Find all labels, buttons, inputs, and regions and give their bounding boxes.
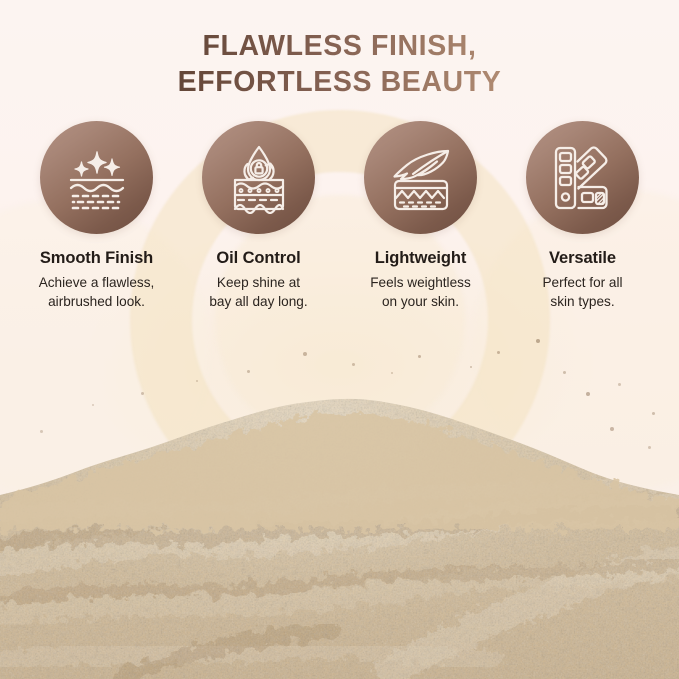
- feature-description: Perfect for all skin types.: [542, 273, 622, 312]
- feature-title: Versatile: [549, 249, 616, 268]
- icon-badge-lightweight: [364, 121, 477, 234]
- icon-badge-versatile: [526, 121, 639, 234]
- feature-title: Lightweight: [375, 249, 466, 268]
- feature-smooth-finish: Smooth Finish Achieve a flawless, airbru…: [16, 121, 178, 312]
- headline-line-2: EFFORTLESS BEAUTY: [0, 64, 679, 100]
- feature-description: Keep shine at bay all day long.: [209, 273, 307, 312]
- oil-droplet-lock-icon: [223, 142, 295, 214]
- feature-title: Oil Control: [216, 249, 300, 268]
- powder-mound-image: [0, 319, 679, 679]
- feature-description: Achieve a flawless, airbrushed look.: [39, 273, 155, 312]
- feature-list: Smooth Finish Achieve a flawless, airbru…: [0, 121, 679, 312]
- sparkle-smooth-skin-icon: [61, 142, 133, 214]
- feature-title: Smooth Finish: [40, 249, 153, 268]
- icon-badge-smooth-finish: [40, 121, 153, 234]
- headline: FLAWLESS FINISH, EFFORTLESS BEAUTY: [0, 28, 679, 101]
- icon-badge-oil-control: [202, 121, 315, 234]
- feature-lightweight: Lightweight Feels weightless on your ski…: [340, 121, 502, 312]
- feature-description: Feels weightless on your skin.: [370, 273, 471, 312]
- beauty-product-banner: FLAWLESS FINISH, EFFORTLESS BEAUTY: [0, 0, 679, 679]
- headline-line-1: FLAWLESS FINISH,: [0, 28, 679, 64]
- feather-skin-icon: [385, 142, 457, 214]
- feature-versatile: Versatile Perfect for all skin types.: [502, 121, 664, 312]
- feature-oil-control: Oil Control Keep shine at bay all day lo…: [178, 121, 340, 312]
- shade-palette-icon: [547, 142, 619, 214]
